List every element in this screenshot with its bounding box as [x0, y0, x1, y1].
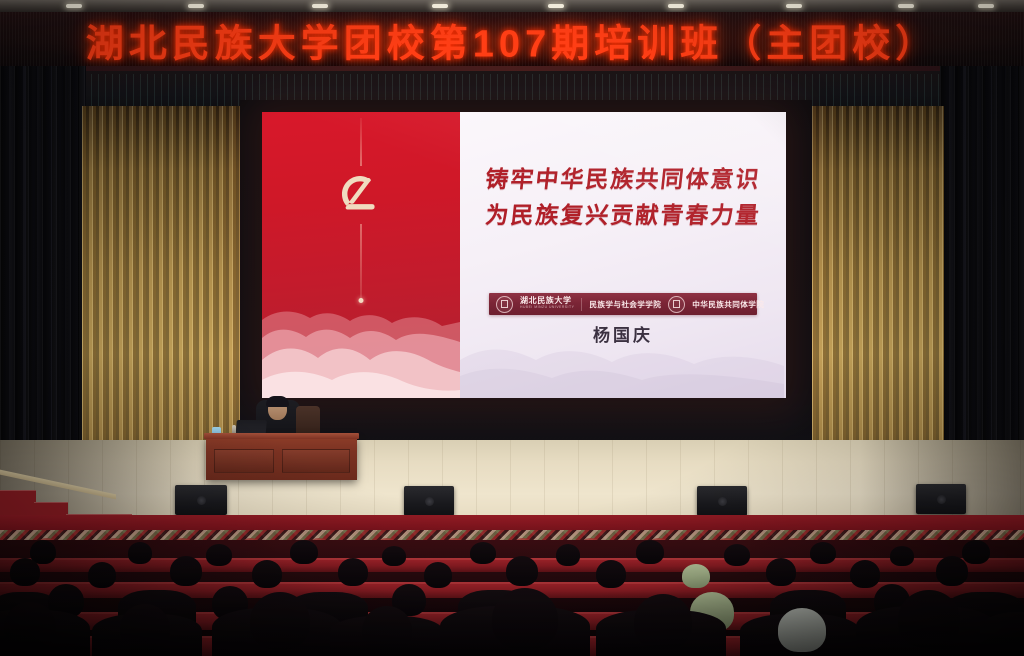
podium-top-edge	[204, 433, 359, 439]
audience-head	[682, 564, 710, 588]
audience-head	[206, 544, 232, 566]
logo-separator	[581, 298, 582, 311]
audience-head	[88, 562, 116, 588]
audience-head	[850, 560, 880, 588]
audience-head	[556, 544, 580, 566]
audience-head	[120, 604, 170, 652]
ceiling-light	[432, 4, 448, 8]
podium-panel	[282, 449, 350, 473]
university-name-cn: 湖北民族大学	[520, 297, 574, 305]
faint-mountain-graphic	[460, 314, 786, 398]
floor-monitor-center-right	[697, 486, 747, 516]
floor-monitor-left	[175, 485, 227, 515]
university-name-en: HUBEI MINZU UNIVERSITY	[520, 305, 574, 310]
slide-title-line-2: 为民族复兴贡献青春力量	[460, 198, 786, 234]
audience-head	[890, 546, 914, 566]
audience-head	[506, 556, 538, 586]
audience-head	[252, 560, 282, 588]
college-name-2: 中华民族共同体学院	[692, 299, 764, 310]
audience-head	[424, 562, 452, 588]
audience-head	[898, 590, 960, 648]
audience-head	[634, 594, 692, 650]
seal-glyph	[501, 300, 508, 308]
projection-screen: 铸牢中华民族共同体意识 为民族复兴贡献青春力量 湖北民族大学 HUBEI MIN…	[262, 112, 786, 398]
audience-head	[936, 556, 968, 586]
slide-content: 铸牢中华民族共同体意识 为民族复兴贡献青春力量 湖北民族大学 HUBEI MIN…	[262, 112, 786, 398]
audience-head	[290, 540, 318, 564]
audience-head	[470, 542, 496, 564]
valance-trim	[0, 66, 1024, 71]
slide-title-block: 铸牢中华民族共同体意识 为民族复兴贡献青春力量	[460, 162, 786, 233]
audience-head	[10, 558, 40, 586]
audience-head	[4, 602, 56, 652]
audience-foreground	[980, 612, 1024, 656]
auditorium-photo: 湖北民族大学团校第107期培训班（主团校）	[0, 0, 1024, 656]
audience-head	[362, 606, 412, 654]
ceiling-light	[548, 4, 564, 8]
ceiling-light	[188, 4, 204, 8]
ceiling-light	[978, 4, 994, 8]
audience-head	[170, 556, 202, 586]
ceiling-light	[898, 4, 914, 8]
university-seal-icon	[496, 296, 513, 313]
emblem-line-top	[361, 118, 362, 166]
audience-head	[636, 540, 664, 564]
ceiling-light	[312, 4, 328, 8]
audience-area	[0, 540, 1024, 656]
speaker-hair	[266, 396, 289, 407]
slide-left-panel	[262, 112, 460, 398]
audience-head	[962, 540, 990, 564]
ceiling-light	[668, 4, 684, 8]
podium-desk	[206, 437, 357, 480]
audience-head	[250, 592, 310, 650]
audience-head	[382, 546, 406, 566]
audience-head	[778, 608, 826, 652]
university-name-block: 湖北民族大学 HUBEI MINZU UNIVERSITY	[520, 297, 574, 310]
cloud-mountain-graphic	[262, 280, 460, 398]
college-seal-icon	[668, 296, 685, 313]
ceiling-light	[66, 4, 82, 8]
audience-head	[492, 588, 558, 650]
floor-monitor-right	[916, 484, 966, 514]
audience-head	[596, 560, 626, 588]
college-name-1: 民族学与社会学学院	[589, 299, 661, 310]
floor-monitor-center-left	[404, 486, 454, 516]
slide-title-line-1: 铸牢中华民族共同体意识	[460, 162, 786, 198]
logo-bar: 湖北民族大学 HUBEI MINZU UNIVERSITY 民族学与社会学学院 …	[489, 293, 757, 315]
audience-head	[128, 542, 152, 564]
audience-head	[338, 558, 368, 586]
audience-head	[810, 542, 836, 564]
ceiling-light	[786, 4, 802, 8]
podium-panel	[214, 449, 274, 473]
audience-head	[724, 544, 750, 566]
audience-head	[766, 558, 796, 586]
led-banner-text: 湖北民族大学团校第107期培训班（主团校）	[0, 13, 1024, 68]
cpc-hammer-sickle-icon	[332, 166, 390, 224]
led-banner: 湖北民族大学团校第107期培训班（主团校）	[0, 12, 1024, 68]
seal-glyph	[673, 300, 680, 308]
slide-right-panel: 铸牢中华民族共同体意识 为民族复兴贡献青春力量 湖北民族大学 HUBEI MIN…	[460, 112, 786, 398]
